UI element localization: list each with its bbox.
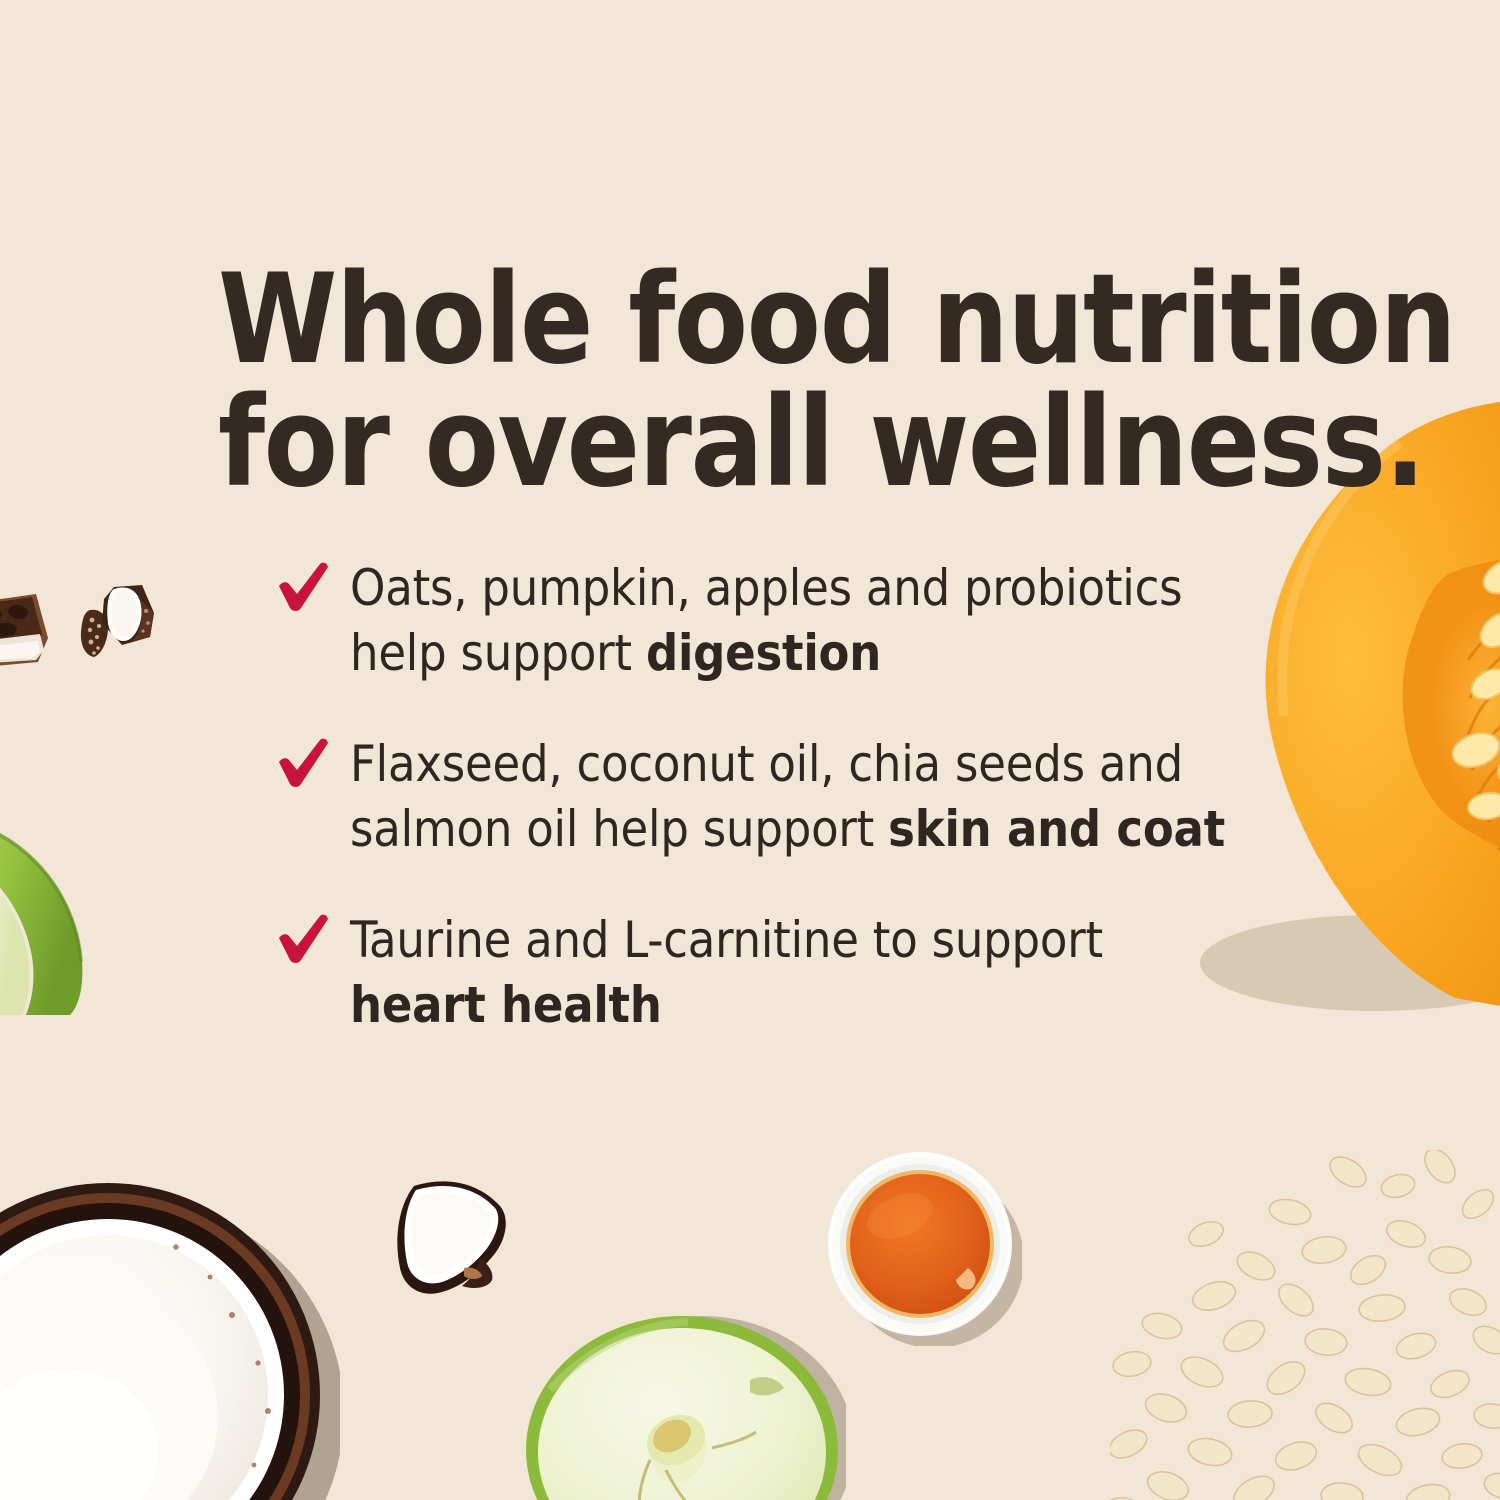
list-item: Taurine and L-carnitine to support heart… — [276, 908, 1236, 1038]
list-item: Oats, pumpkin, apples and probiotics hel… — [276, 556, 1236, 686]
list-item-emphasis: digestion — [646, 624, 881, 682]
coconut-chunk-image — [392, 1172, 517, 1307]
headline-line-2: for overall wellness. — [218, 382, 1304, 505]
list-item-emphasis: heart health — [350, 976, 662, 1034]
page-title: Whole food nutrition for overall wellnes… — [218, 259, 1304, 505]
check-icon — [276, 914, 330, 966]
check-icon — [276, 738, 330, 790]
list-item-text: Taurine and L-carnitine to support — [350, 911, 1103, 969]
coconut-piece-image — [96, 583, 158, 651]
oil-bowl-image — [826, 1150, 1022, 1346]
headline-line-1: Whole food nutrition — [218, 259, 1304, 382]
coconut-half-image — [0, 1165, 340, 1500]
list-item: Flaxseed, coconut oil, chia seeds and sa… — [276, 732, 1236, 862]
list-item-emphasis: skin and coat — [888, 800, 1225, 858]
check-icon — [276, 562, 330, 614]
oats-pile-image — [1110, 1150, 1500, 1500]
apple-half-image — [516, 1300, 846, 1500]
promotional-banner: Whole food nutrition for overall wellnes… — [0, 0, 1500, 1500]
coconut-piece-image — [0, 594, 56, 672]
benefits-list: Oats, pumpkin, apples and probiotics hel… — [276, 556, 1236, 1038]
apple-slice-image — [0, 795, 130, 1015]
